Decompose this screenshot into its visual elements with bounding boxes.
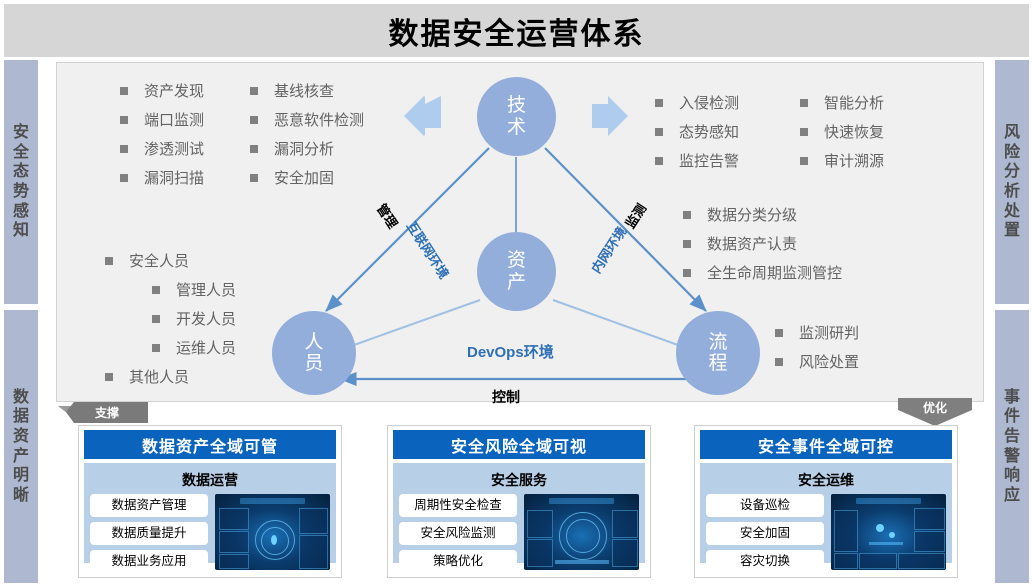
list-item-label: 全生命周期监测管控: [707, 262, 842, 283]
square-bullet-icon: [120, 116, 128, 124]
list-asset-discovery: 资产发现端口监测渗透测试漏洞扫描: [120, 76, 204, 192]
rail-right-risk-analysis[interactable]: 风险分析处置: [995, 60, 1029, 304]
rail-right-label-1: 风险分析处置: [1004, 123, 1020, 240]
square-bullet-icon: [250, 87, 258, 95]
rail-right-incident-response[interactable]: 事件告警响应: [995, 310, 1029, 583]
card-item-pill[interactable]: 安全加固: [706, 522, 824, 545]
square-bullet-icon: [152, 286, 160, 294]
slide-root: 数据安全运营体系 安全态势感知 数据资产明晰 风险分析处置 事件告警响应: [0, 0, 1033, 587]
square-bullet-icon: [800, 128, 808, 136]
list-item-label: 监控告警: [679, 150, 739, 171]
list-item: 漏洞分析: [250, 134, 364, 163]
list-baseline-check: 基线核查恶意软件检测漏洞分析安全加固: [250, 76, 364, 192]
card-item-pill[interactable]: 策略优化: [399, 550, 517, 573]
rail-right-label-2: 事件告警响应: [1004, 388, 1020, 505]
square-bullet-icon: [775, 358, 783, 366]
list-item: 风险处置: [775, 347, 859, 376]
card-body: 数据运营 数据资产管理数据质量提升数据业务应用: [84, 463, 336, 563]
list-item-label: 恶意软件检测: [274, 109, 364, 130]
square-bullet-icon: [655, 99, 663, 107]
card-item-pill[interactable]: 数据资产管理: [90, 494, 208, 517]
edge-label-control: 控制: [492, 387, 520, 407]
card-title: 安全事件全域可控: [700, 430, 952, 459]
square-bullet-icon: [655, 157, 663, 165]
dashboard-thumbnail: [524, 494, 639, 570]
node-people[interactable]: 人员: [272, 311, 356, 395]
card-title: 安全风险全域可视: [393, 430, 645, 459]
list-item-label: 安全加固: [274, 167, 334, 188]
card-item-pill[interactable]: 安全风险监测: [399, 522, 517, 545]
list-item: 态势感知: [655, 117, 739, 146]
list-item: 漏洞扫描: [120, 163, 204, 192]
list-item: 监测研判: [775, 318, 859, 347]
card-data-asset[interactable]: 数据资产全域可管 数据运营 数据资产管理数据质量提升数据业务应用: [78, 425, 342, 578]
list-item: 恶意软件检测: [250, 105, 364, 134]
square-bullet-icon: [250, 145, 258, 153]
square-bullet-icon: [655, 128, 663, 136]
square-bullet-icon: [683, 240, 691, 248]
square-bullet-icon: [105, 373, 113, 381]
list-item-label: 数据资产认责: [707, 233, 797, 254]
list-item: 数据资产认责: [683, 229, 842, 258]
dashboard-thumbnail: [215, 494, 330, 570]
list-item: 其他人员: [105, 362, 236, 391]
list-item: 安全人员: [105, 246, 236, 275]
square-bullet-icon: [152, 344, 160, 352]
list-intrusion-detect: 入侵检测态势感知监控告警: [655, 88, 739, 175]
list-item: 数据分类分级: [683, 200, 842, 229]
card-subtitle: 安全服务: [393, 463, 645, 494]
list-item: 管理人员: [152, 275, 236, 304]
card-item-pill[interactable]: 容灾切换: [706, 550, 824, 573]
square-bullet-icon: [800, 157, 808, 165]
list-item-label: 安全人员: [129, 250, 189, 271]
card-body: 安全服务 周期性安全检查安全风险监测策略优化: [393, 463, 645, 563]
list-item-label: 风险处置: [799, 351, 859, 372]
list-item: 入侵检测: [655, 88, 739, 117]
dashboard-thumbnail: [831, 494, 946, 570]
square-bullet-icon: [120, 174, 128, 182]
title-bar: 数据安全运营体系: [4, 4, 1029, 57]
list-item: 开发人员: [152, 304, 236, 333]
list-item: 基线核查: [250, 76, 364, 105]
node-process[interactable]: 流程: [676, 311, 760, 395]
card-item-list: 数据资产管理数据质量提升数据业务应用: [90, 494, 208, 573]
card-subtitle: 数据运营: [84, 463, 336, 494]
node-people-label: 人员: [304, 332, 323, 375]
list-item: 安全加固: [250, 163, 364, 192]
node-technology-label: 技术: [507, 95, 526, 138]
list-item-label: 运维人员: [176, 337, 236, 358]
card-item-pill[interactable]: 设备巡检: [706, 494, 824, 517]
list-item: 监控告警: [655, 146, 739, 175]
list-item-label: 漏洞扫描: [144, 167, 204, 188]
square-bullet-icon: [250, 116, 258, 124]
list-item-label: 漏洞分析: [274, 138, 334, 159]
list-item: 端口监测: [120, 105, 204, 134]
card-item-list: 周期性安全检查安全风险监测策略优化: [399, 494, 517, 573]
card-subtitle: 安全运维: [700, 463, 952, 494]
list-item-label: 开发人员: [176, 308, 236, 329]
node-asset-label: 资产: [507, 250, 526, 293]
list-smart-analysis: 智能分析快速恢复审计溯源: [800, 88, 884, 175]
rail-left-data-asset[interactable]: 数据资产明晰: [4, 310, 38, 583]
rail-left-label-2: 数据资产明晰: [13, 388, 29, 505]
square-bullet-icon: [120, 145, 128, 153]
rail-left-label-1: 安全态势感知: [13, 123, 29, 240]
list-data-classify: 数据分类分级数据资产认责全生命周期监测管控: [683, 200, 842, 287]
square-bullet-icon: [683, 211, 691, 219]
page-title: 数据安全运营体系: [389, 9, 645, 53]
square-bullet-icon: [152, 315, 160, 323]
list-item-label: 态势感知: [679, 121, 739, 142]
list-item-label: 入侵检测: [679, 92, 739, 113]
node-asset[interactable]: 资产: [477, 232, 556, 311]
list-item-label: 端口监测: [144, 109, 204, 130]
square-bullet-icon: [105, 257, 113, 265]
card-title: 数据资产全域可管: [84, 430, 336, 459]
square-bullet-icon: [120, 87, 128, 95]
card-item-pill[interactable]: 周期性安全检查: [399, 494, 517, 517]
card-item-list: 设备巡检安全加固容灾切换: [706, 494, 824, 573]
node-process-label: 流程: [708, 332, 727, 375]
list-item-label: 监测研判: [799, 322, 859, 343]
list-item: 全生命周期监测管控: [683, 258, 842, 287]
rail-left-security-situation[interactable]: 安全态势感知: [4, 60, 38, 304]
card-security-incident[interactable]: 安全事件全域可控 安全运维 设备巡检安全加固容灾切换: [694, 425, 958, 578]
list-item-label: 其他人员: [129, 366, 189, 387]
square-bullet-icon: [800, 99, 808, 107]
square-bullet-icon: [683, 269, 691, 277]
card-security-risk[interactable]: 安全风险全域可视 安全服务 周期性安全检查安全风险监测策略优化: [387, 425, 651, 578]
ribbon-optimize: 优化: [898, 398, 972, 427]
list-item-label: 资产发现: [144, 80, 204, 101]
list-item: 快速恢复: [800, 117, 884, 146]
card-item-pill[interactable]: 数据质量提升: [90, 522, 208, 545]
list-item-label: 基线核查: [274, 80, 334, 101]
ribbon-support: 支撑: [66, 402, 148, 423]
list-personnel: 安全人员管理人员开发人员运维人员其他人员: [105, 246, 236, 391]
list-monitor-judge: 监测研判风险处置: [775, 318, 859, 376]
card-item-pill[interactable]: 数据业务应用: [90, 550, 208, 573]
list-item-label: 审计溯源: [824, 150, 884, 171]
card-body: 安全运维 设备巡检安全加固容灾切换: [700, 463, 952, 563]
list-item: 运维人员: [152, 333, 236, 362]
list-item-label: 渗透测试: [144, 138, 204, 159]
list-item-label: 智能分析: [824, 92, 884, 113]
list-item: 资产发现: [120, 76, 204, 105]
list-item: 渗透测试: [120, 134, 204, 163]
list-item: 智能分析: [800, 88, 884, 117]
list-item-label: 管理人员: [176, 279, 236, 300]
square-bullet-icon: [250, 174, 258, 182]
list-item: 审计溯源: [800, 146, 884, 175]
node-technology[interactable]: 技术: [477, 77, 556, 156]
list-item-label: 数据分类分级: [707, 204, 797, 225]
edge-label-devops: DevOps环境: [467, 341, 554, 362]
square-bullet-icon: [775, 329, 783, 337]
list-item-label: 快速恢复: [824, 121, 884, 142]
